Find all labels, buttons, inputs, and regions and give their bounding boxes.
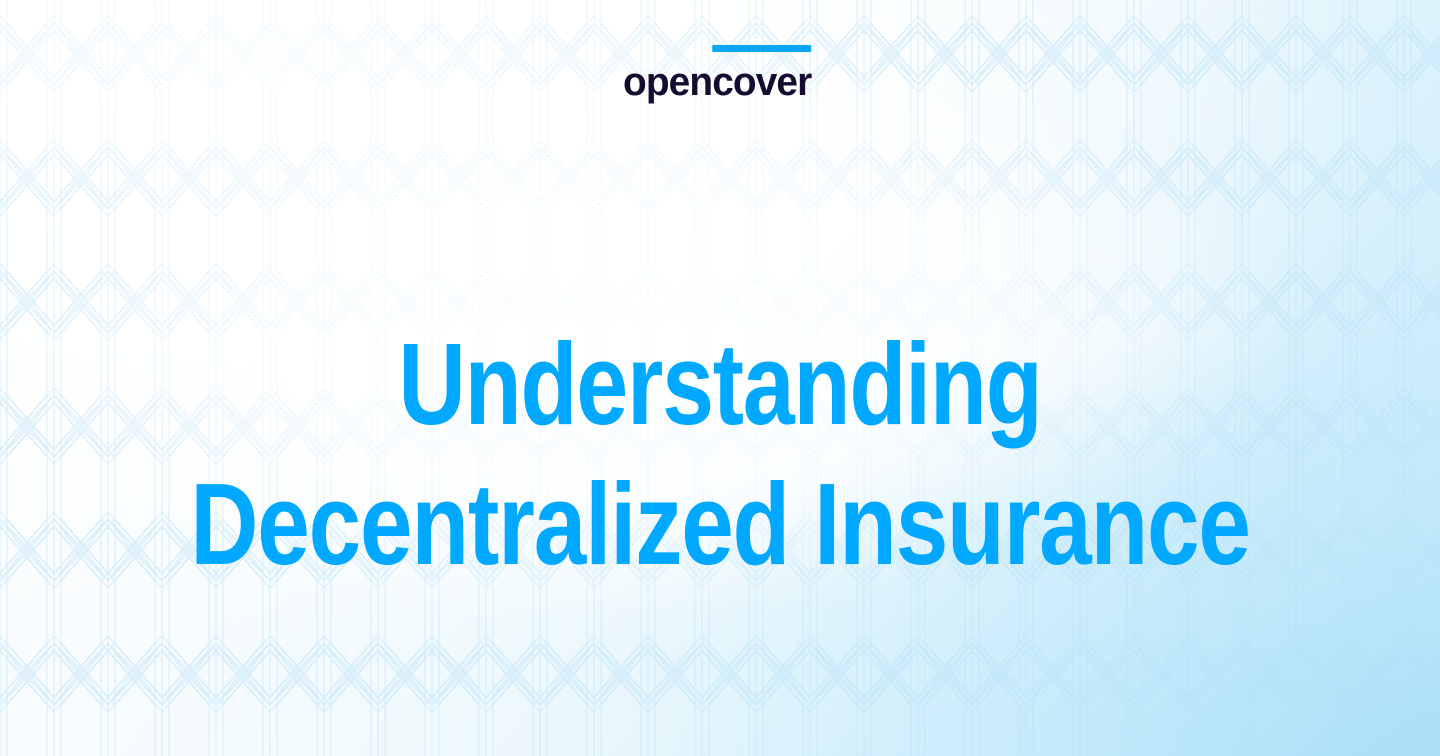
brand-logo-inner: opencover [623,62,817,102]
page-title-line-2: Decentralized Insurance [133,454,1307,594]
hero-banner: opencover Understanding Decentralized In… [0,0,1440,756]
brand-logo-text-cover: cover [712,62,811,102]
hero-content: opencover Understanding Decentralized In… [0,0,1440,756]
brand-logo-accent-bar [712,45,811,52]
brand-logo-text-cover-label: cover [712,60,811,104]
page-title-line-1: Understanding [140,314,1299,454]
brand-logo[interactable]: opencover [0,62,1440,102]
brand-logo-wordmark: opencover [623,62,811,102]
brand-logo-text-open: open [623,62,712,102]
page-title: Understanding Decentralized Insurance [0,314,1440,594]
